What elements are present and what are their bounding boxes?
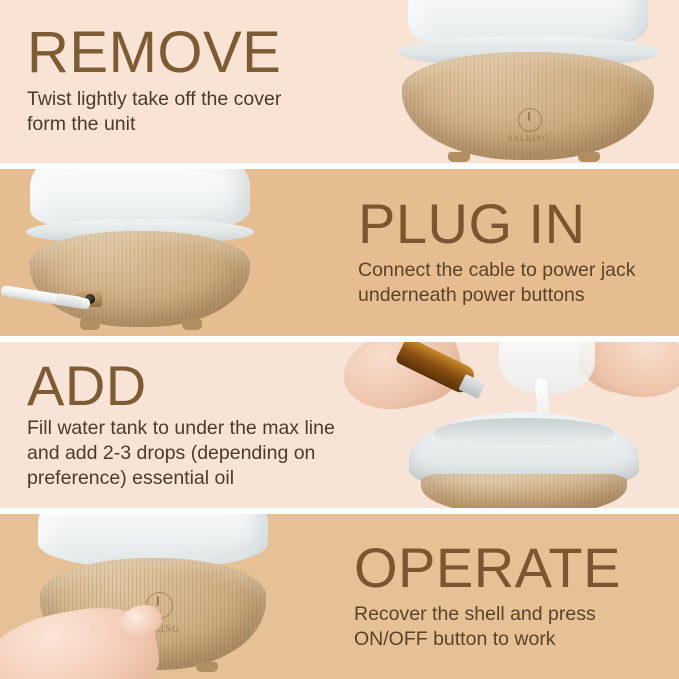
power-button-icon bbox=[528, 112, 530, 121]
step-body-line: Twist lightly take off the cover bbox=[27, 87, 400, 112]
step-body-line: preference) essential oil bbox=[27, 466, 400, 491]
step-text-operate: OPERATE Recover the shell and press ON/O… bbox=[320, 514, 679, 679]
diffuser-wood-base bbox=[402, 52, 654, 160]
brand-label: SALKING bbox=[508, 134, 549, 143]
step-panel-operate: SALKING OPERATE Recover the shell and pr… bbox=[0, 514, 679, 679]
step-headline-remove: REMOVE bbox=[27, 25, 400, 80]
tank-opening bbox=[433, 418, 615, 448]
step-panel-plug-in: PLUG IN Connect the cable to power jack … bbox=[0, 169, 679, 337]
step-image-plug-in bbox=[0, 169, 330, 337]
diffuser-foot bbox=[196, 662, 218, 672]
step-body-add: Fill water tank to under the max line an… bbox=[27, 416, 400, 491]
diffuser-foot bbox=[578, 152, 600, 162]
diffuser-foot bbox=[80, 319, 100, 330]
step-panel-remove: REMOVE Twist lightly take off the cover … bbox=[0, 0, 679, 163]
step-headline-add: ADD bbox=[27, 359, 400, 412]
step-text-plug-in: PLUG IN Connect the cable to power jack … bbox=[330, 169, 679, 337]
step-body-line: Connect the cable to power jack bbox=[358, 258, 679, 283]
step-body-line: ON/OFF button to work bbox=[354, 627, 679, 652]
diffuser-wood-base bbox=[30, 231, 250, 327]
diffuser-illustration: SALKING bbox=[380, 0, 679, 163]
step-panel-add: ADD Fill water tank to under the max lin… bbox=[0, 342, 679, 508]
power-button-icon bbox=[157, 596, 159, 606]
step-text-remove: REMOVE Twist lightly take off the cover … bbox=[0, 0, 400, 163]
step-image-operate: SALKING bbox=[0, 514, 330, 679]
step-body-line: Fill water tank to under the max line bbox=[27, 416, 400, 441]
step-text-add: ADD Fill water tank to under the max lin… bbox=[0, 342, 400, 508]
step-body-line: form the unit bbox=[27, 112, 400, 137]
step-body-line: Recover the shell and press bbox=[354, 602, 679, 627]
step-body-plug-in: Connect the cable to power jack undernea… bbox=[358, 258, 679, 308]
diffuser-wood-base bbox=[421, 474, 627, 508]
instruction-infographic: REMOVE Twist lightly take off the cover … bbox=[0, 0, 679, 679]
step-body-remove: Twist lightly take off the cover form th… bbox=[27, 87, 400, 137]
diffuser-illustration: SALKING bbox=[0, 514, 330, 679]
step-image-remove: SALKING bbox=[380, 0, 679, 163]
step-body-line: underneath power buttons bbox=[358, 283, 679, 308]
step-body-line: and add 2-3 drops (depending on bbox=[27, 441, 400, 466]
diffuser-illustration bbox=[0, 169, 330, 337]
power-button-icon bbox=[518, 108, 542, 132]
step-body-operate: Recover the shell and press ON/OFF butto… bbox=[354, 602, 679, 652]
step-headline-operate: OPERATE bbox=[354, 541, 679, 594]
diffuser-foot bbox=[182, 319, 202, 330]
step-headline-plug-in: PLUG IN bbox=[358, 197, 679, 250]
diffuser-foot bbox=[448, 152, 470, 162]
